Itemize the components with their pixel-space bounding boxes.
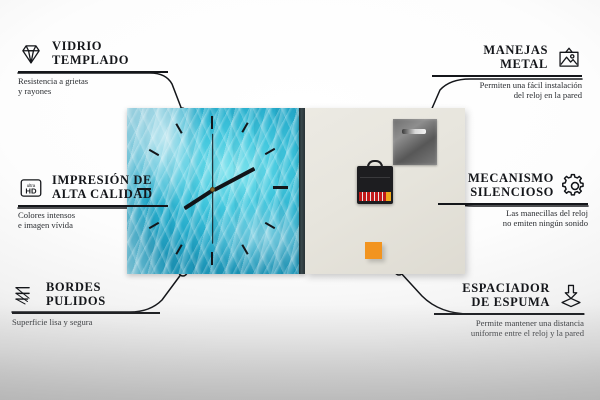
callout-description: Superficie lisa y segura [12, 317, 160, 328]
callout-description: Resistencia a grietas y rayones [18, 76, 168, 97]
callout-impresion-alta-calidad: ultra HD IMPRESIÓN DE ALTA CALIDAD Color… [18, 174, 168, 231]
callout-espaciador-espuma: ESPACIADOR DE ESPUMA Permite mantener un… [434, 282, 584, 339]
callout-rule [434, 313, 584, 315]
svg-text:HD: HD [25, 186, 37, 195]
callout-title-line2: ALTA CALIDAD [52, 187, 153, 201]
callout-title-line2: METAL [500, 57, 548, 71]
callout-bordes-pulidos: BORDES PULIDOS Superficie lisa y segura [12, 281, 160, 327]
clock-tick-6 [211, 252, 213, 265]
callout-rule [438, 203, 588, 205]
clock-tick-12 [211, 116, 213, 129]
infographic-canvas: VIDRIO TEMPLADO Resistencia a grietas y … [0, 0, 600, 400]
callout-title-line1: BORDES [46, 280, 101, 294]
callout-title-line1: ESPACIADOR [462, 281, 550, 295]
gear-icon [562, 173, 588, 199]
foam-spacer [365, 242, 382, 259]
mechanism-hook [367, 160, 383, 168]
polished-edges-icon [12, 282, 38, 308]
callout-manejas-metal: MANEJAS METAL Permiten una fácil instala… [432, 44, 582, 101]
callout-description: Las manecillas del reloj no emiten ningú… [438, 208, 588, 229]
callout-title-line2: PULIDOS [46, 294, 106, 308]
callout-title-line1: IMPRESIÓN DE [52, 173, 152, 187]
mechanism-seam [360, 177, 390, 178]
arrow-down-layer-icon [558, 283, 584, 309]
callout-title-line1: VIDRIO [52, 39, 102, 53]
callout-rule [18, 71, 168, 73]
callout-rule [12, 312, 160, 314]
callout-title-line2: DE ESPUMA [471, 295, 550, 309]
hanger-plate [393, 119, 437, 165]
clock-tick-3 [273, 186, 288, 189]
hanger-slot [402, 129, 426, 134]
ultra-hd-icon: ultra HD [18, 175, 44, 201]
battery-compartment [386, 192, 391, 201]
callout-title-line1: MANEJAS [483, 43, 548, 57]
callout-description: Colores intensos e imagen vívida [18, 210, 168, 231]
callout-title-line1: MECANISMO [468, 171, 554, 185]
clock-mechanism [357, 166, 393, 204]
diamond-icon [18, 41, 44, 67]
callout-mecanismo-silencioso: MECANISMO SILENCIOSO Las manecillas del … [438, 172, 588, 229]
callout-title-line2: SILENCIOSO [470, 185, 554, 199]
callout-vidrio-templado: VIDRIO TEMPLADO Resistencia a grietas y … [18, 40, 168, 97]
picture-frame-hanger-icon [556, 45, 582, 71]
callout-rule [18, 205, 168, 207]
callout-description: Permite mantener una distancia uniforme … [434, 318, 584, 339]
callout-description: Permiten una fácil instalación del reloj… [432, 80, 582, 101]
clock-center-cap [210, 187, 215, 192]
callout-rule [432, 75, 582, 77]
callout-title-line2: TEMPLADO [52, 53, 129, 67]
